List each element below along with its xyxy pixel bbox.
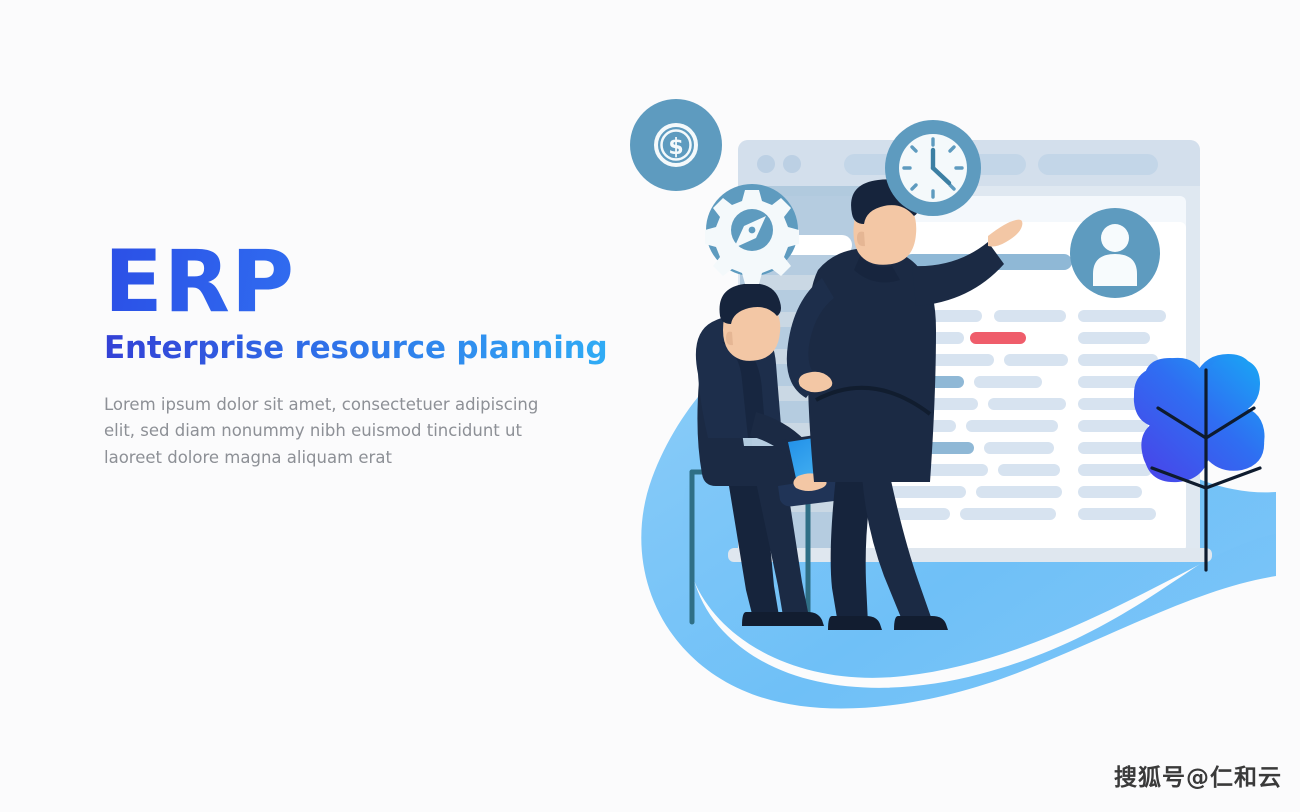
- worker-shoe-front: [772, 612, 824, 626]
- leaf-shape-body: [1134, 358, 1264, 478]
- content-row: [994, 310, 1066, 322]
- window-dot-2: [783, 155, 801, 173]
- content-row: [988, 398, 1066, 410]
- hero-body-text: Lorem ipsum dolor sit amet, consectetuer…: [104, 392, 574, 472]
- coin-dollar-badge[interactable]: $: [630, 99, 722, 191]
- watermark: 搜狐号@仁和云: [1114, 758, 1282, 792]
- user-avatar-badge[interactable]: [1070, 208, 1160, 298]
- content-row: [1078, 464, 1152, 476]
- gear-compass-badge[interactable]: [705, 184, 799, 284]
- clock-badge[interactable]: [885, 120, 981, 216]
- content-row: [976, 486, 1062, 498]
- gear-compass-icon: [705, 190, 799, 284]
- content-row: [1078, 420, 1148, 432]
- window-dot-1: [757, 155, 775, 173]
- content-row: [960, 508, 1056, 520]
- content-row: [1078, 354, 1158, 366]
- content-row: [1004, 354, 1068, 366]
- content-row: [984, 442, 1054, 454]
- content-row: [1078, 486, 1142, 498]
- content-row: [1078, 508, 1156, 520]
- content-row: [1078, 310, 1166, 322]
- erp-illustration: $: [560, 40, 1280, 730]
- content-row: [1078, 376, 1144, 388]
- presenter-shoe-right: [894, 616, 948, 630]
- content-row-highlight: [970, 332, 1026, 344]
- content-row: [1078, 332, 1150, 344]
- presenter-shoe-left: [828, 616, 882, 630]
- content-row: [998, 464, 1060, 476]
- window-base: [728, 548, 1212, 562]
- poster-canvas: ERP Enterprise resource planning Lorem i…: [0, 0, 1300, 812]
- content-row: [966, 420, 1058, 432]
- content-row: [974, 376, 1042, 388]
- browser-tab-2: [1038, 154, 1158, 175]
- svg-text:$: $: [668, 135, 683, 160]
